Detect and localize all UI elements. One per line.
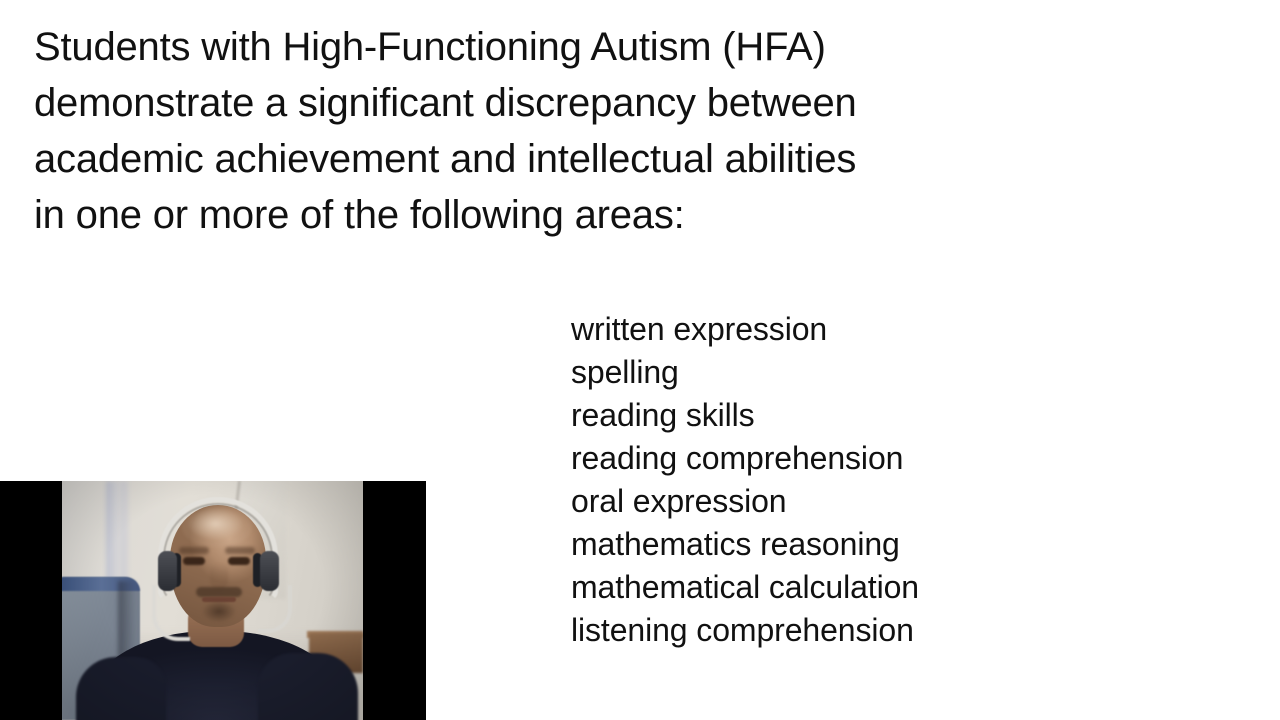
headphones-earcup-left (158, 551, 177, 591)
slide-heading: Students with High-Functioning Autism (H… (34, 19, 1054, 243)
list-item: spelling (571, 351, 1051, 394)
list-item: listening comprehension (571, 609, 1051, 652)
list-item: reading skills (571, 394, 1051, 437)
heading-line-2: demonstrate a significant discrepancy be… (34, 75, 1054, 131)
heading-line-4: in one or more of the following areas: (34, 187, 1054, 243)
heading-line-3: academic achievement and intellectual ab… (34, 131, 1054, 187)
headphones-earcup-right (260, 551, 279, 591)
presentation-slide: Students with High-Functioning Autism (H… (0, 0, 1280, 720)
list-item: reading comprehension (571, 437, 1051, 480)
list-item: written expression (571, 308, 1051, 351)
list-item: mathematical calculation (571, 566, 1051, 609)
list-item: oral expression (571, 480, 1051, 523)
webcam-overlay (0, 481, 426, 720)
list-item: mathematics reasoning (571, 523, 1051, 566)
academic-areas-list: written expression spelling reading skil… (571, 308, 1051, 652)
presenter-goatee (197, 601, 241, 627)
presenter-shoulder-right (258, 653, 358, 720)
presenter-shoulder-left (76, 657, 166, 720)
heading-line-1: Students with High-Functioning Autism (H… (34, 19, 1054, 75)
presenter-video (62, 481, 363, 720)
